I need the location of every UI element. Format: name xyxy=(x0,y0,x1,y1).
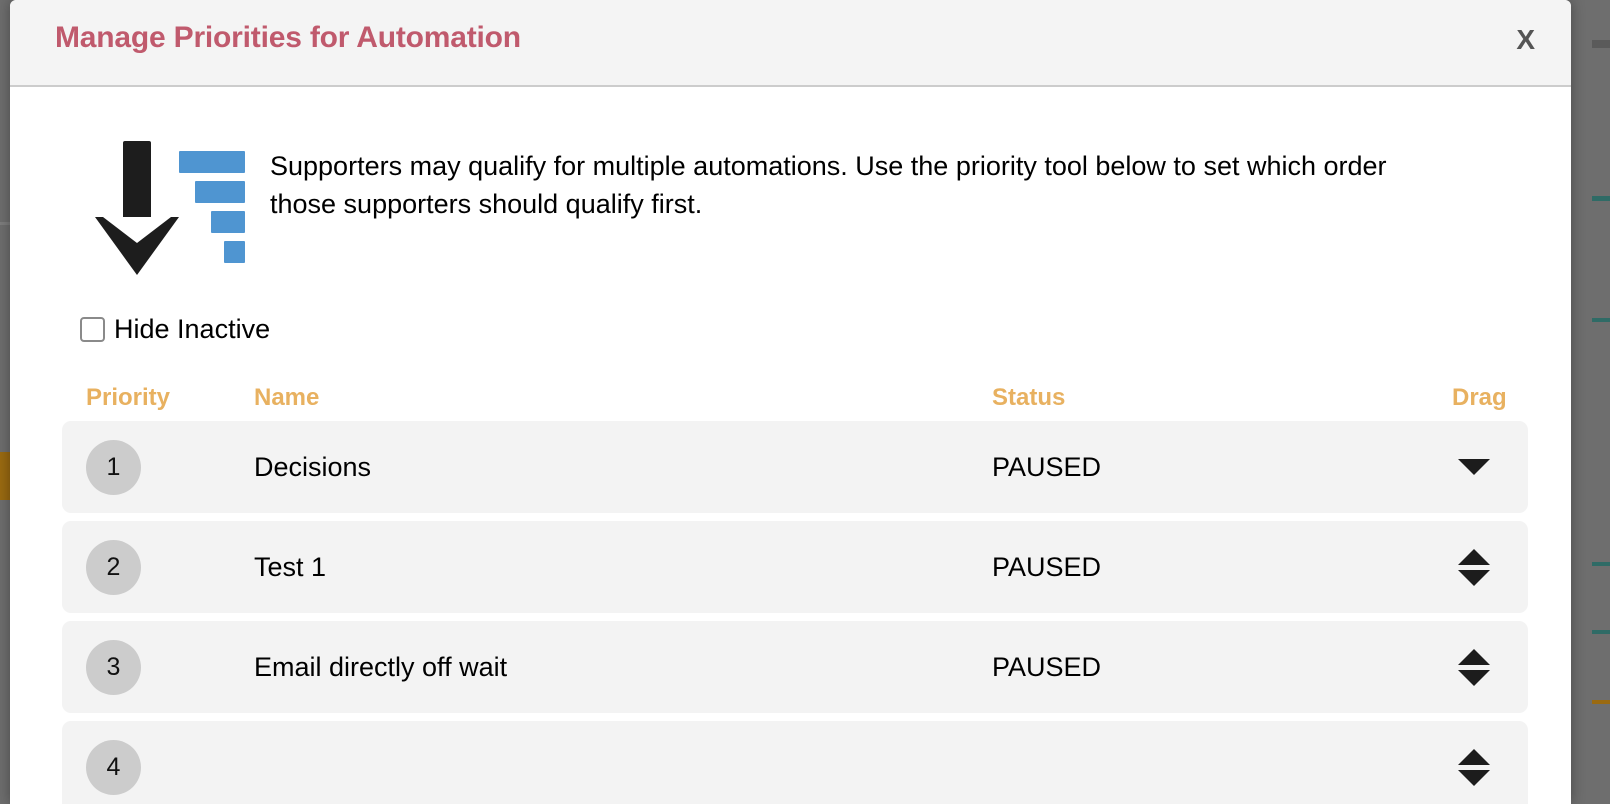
drag-handle[interactable] xyxy=(1452,455,1496,479)
close-icon[interactable]: X xyxy=(1510,24,1541,56)
automation-name: Email directly off wait xyxy=(254,652,992,683)
drag-cell xyxy=(1452,455,1506,479)
drag-cell xyxy=(1452,645,1506,690)
hide-inactive-filter[interactable]: Hide Inactive xyxy=(80,314,1571,345)
priority-table: Priority Name Status Drag 1 Decisions PA… xyxy=(10,375,1571,804)
priority-cell: 2 xyxy=(86,540,254,595)
priority-bars xyxy=(179,151,245,271)
drag-handle[interactable] xyxy=(1452,645,1496,690)
chevron-down-icon[interactable] xyxy=(1458,670,1490,686)
backdrop-fragment-left-line xyxy=(0,222,10,225)
chevron-down-icon[interactable] xyxy=(1458,459,1490,475)
hide-inactive-checkbox[interactable] xyxy=(80,317,105,342)
table-header-row: Priority Name Status Drag xyxy=(62,375,1528,421)
priority-bar-1 xyxy=(179,151,245,173)
priority-cell: 4 xyxy=(86,740,254,795)
column-header-status: Status xyxy=(992,384,1452,412)
intro-section: Supporters may qualify for multiple auto… xyxy=(10,87,1571,284)
modal-body: Supporters may qualify for multiple auto… xyxy=(10,87,1571,804)
backdrop-fragment-right-teal-1 xyxy=(1592,196,1610,201)
priority-badge: 1 xyxy=(86,440,141,495)
priority-cell: 1 xyxy=(86,440,254,495)
automation-name: Decisions xyxy=(254,452,992,483)
priority-badge: 2 xyxy=(86,540,141,595)
modal-header: Manage Priorities for Automation X xyxy=(10,0,1571,87)
status-badge: PAUSED xyxy=(992,552,1452,583)
priority-cell: 3 xyxy=(86,640,254,695)
column-header-name: Name xyxy=(254,384,992,412)
drag-cell xyxy=(1452,745,1506,790)
chevron-up-icon[interactable] xyxy=(1458,549,1490,565)
table-row[interactable]: 2 Test 1 PAUSED xyxy=(62,521,1528,613)
chevron-up-icon[interactable] xyxy=(1458,649,1490,665)
priority-bar-4 xyxy=(224,241,245,263)
backdrop-fragment-right-teal-4 xyxy=(1592,630,1610,634)
backdrop-fragment-right-dark xyxy=(1592,40,1610,48)
chevron-down-icon[interactable] xyxy=(1458,570,1490,586)
backdrop-fragment-right-teal-3 xyxy=(1592,562,1610,566)
chevron-down-icon[interactable] xyxy=(1458,770,1490,786)
table-row[interactable]: 1 Decisions PAUSED xyxy=(62,421,1528,513)
automation-name: Test 1 xyxy=(254,552,992,583)
backdrop-fragment-left-orange xyxy=(0,452,10,500)
column-header-priority: Priority xyxy=(86,384,254,412)
status-badge: PAUSED xyxy=(992,452,1452,483)
priority-bar-3 xyxy=(211,211,245,233)
priority-badge: 4 xyxy=(86,740,141,795)
status-badge: PAUSED xyxy=(992,652,1452,683)
manage-priorities-modal: Manage Priorities for Automation X Suppo… xyxy=(10,0,1571,804)
table-row[interactable]: 3 Email directly off wait PAUSED xyxy=(62,621,1528,713)
backdrop-fragment-right-gold xyxy=(1592,700,1610,704)
drag-handle[interactable] xyxy=(1452,745,1496,790)
table-row[interactable]: 4 xyxy=(62,721,1528,804)
priority-badge: 3 xyxy=(86,640,141,695)
drag-cell xyxy=(1452,545,1506,590)
hide-inactive-label: Hide Inactive xyxy=(114,314,270,345)
intro-text: Supporters may qualify for multiple auto… xyxy=(270,147,1400,224)
sort-descending-priority-icon xyxy=(95,139,245,284)
arrow-notch xyxy=(103,217,171,243)
backdrop-fragment-right-teal-2 xyxy=(1592,318,1610,322)
priority-bar-2 xyxy=(195,181,245,203)
column-header-drag: Drag xyxy=(1452,384,1519,412)
drag-handle[interactable] xyxy=(1452,545,1496,590)
page-title: Manage Priorities for Automation xyxy=(55,21,521,55)
chevron-up-icon[interactable] xyxy=(1458,749,1490,765)
